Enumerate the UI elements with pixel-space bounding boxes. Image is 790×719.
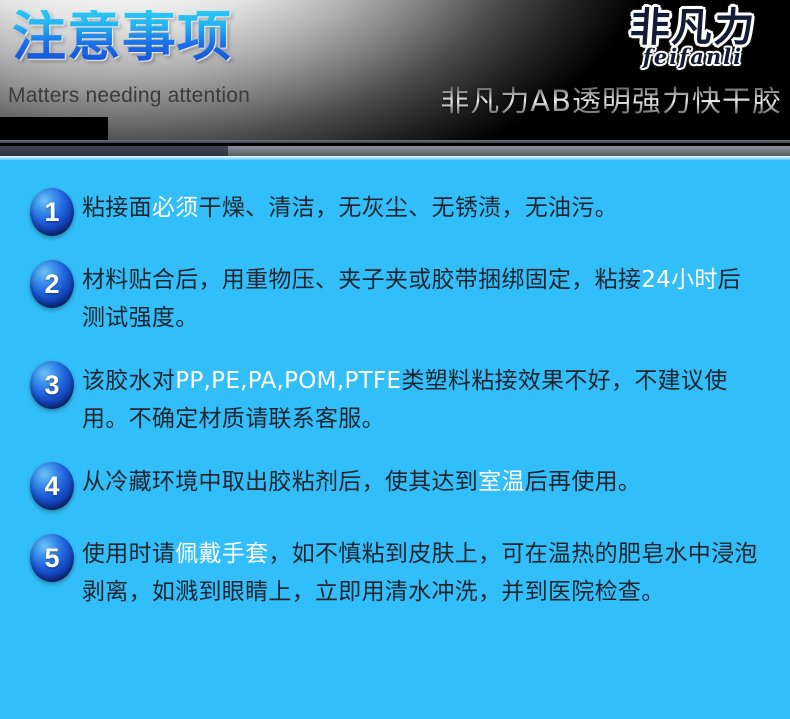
note-text: 从冷藏环境中取出胶粘剂后，使其达到室温后再使用。 <box>82 460 760 501</box>
notes-list: 1粘接面必须干燥、清洁，无灰尘、无锈渍，无油污。2材料贴合后，用重物压、夹子夹或… <box>0 160 790 719</box>
note-text: 粘接面必须干燥、清洁，无灰尘、无锈渍，无油污。 <box>82 186 760 227</box>
note-text-highlight: 必须 <box>152 195 199 221</box>
note-text-highlight: PP,PE,PA,POM,PTFE <box>175 368 401 394</box>
note-text-highlight: 24小时 <box>641 267 717 293</box>
note-number-badge: 3 <box>30 361 74 409</box>
note-number-label: 5 <box>30 534 74 582</box>
note-text: 材料贴合后，用重物压、夹子夹或胶带捆绑固定，粘接24小时后测试强度。 <box>82 258 760 337</box>
note-number-label: 2 <box>30 260 74 308</box>
note-number-label: 3 <box>30 361 74 409</box>
page-title: 注意事项 <box>12 10 232 64</box>
note-number-badge: 2 <box>30 260 74 308</box>
note-item: 3该胶水对PP,PE,PA,POM,PTFE类塑料粘接效果不好，不建议使用。不确… <box>30 359 760 438</box>
note-item: 2材料贴合后，用重物压、夹子夹或胶带捆绑固定，粘接24小时后测试强度。 <box>30 258 760 337</box>
note-text-segment: 粘接面 <box>82 195 152 221</box>
note-number-badge: 1 <box>30 188 74 236</box>
note-text-segment: 从冷藏环境中取出胶粘剂后，使其达到 <box>82 469 478 495</box>
header-black-accent-bar <box>0 117 108 140</box>
separator-bar-left <box>0 146 228 156</box>
note-text-segment: 后再使用。 <box>525 469 642 495</box>
note-item: 4从冷藏环境中取出胶粘剂后，使其达到室温后再使用。 <box>30 460 760 510</box>
note-text-segment: 干燥、清洁，无灰尘、无锈渍，无油污。 <box>199 195 618 221</box>
product-name: 非凡力AB透明强力快干胶 <box>440 86 782 118</box>
note-text-highlight: 佩戴手套 <box>175 541 268 567</box>
separator-bar-right <box>228 146 790 156</box>
note-text-segment: 材料贴合后，用重物压、夹子夹或胶带捆绑固定，粘接 <box>82 267 641 293</box>
note-text-segment: 该胶水对 <box>82 368 175 394</box>
note-item: 1粘接面必须干燥、清洁，无灰尘、无锈渍，无油污。 <box>30 186 760 236</box>
note-text: 使用时请佩戴手套，如不慎粘到皮肤上，可在温热的肥皂水中浸泡剥离，如溅到眼睛上，立… <box>82 532 760 611</box>
note-text-segment: 使用时请 <box>82 541 175 567</box>
note-number-badge: 5 <box>30 534 74 582</box>
note-text-highlight: 室温 <box>478 469 525 495</box>
note-item: 5使用时请佩戴手套，如不慎粘到皮肤上，可在温热的肥皂水中浸泡剥离，如溅到眼睛上，… <box>30 532 760 611</box>
note-text: 该胶水对PP,PE,PA,POM,PTFE类塑料粘接效果不好，不建议使用。不确定… <box>82 359 760 438</box>
note-number-label: 4 <box>30 462 74 510</box>
note-number-badge: 4 <box>30 462 74 510</box>
separator-top-line <box>0 140 790 143</box>
page-subtitle-english: Matters needing attention <box>8 84 250 108</box>
header-separator <box>0 140 790 160</box>
page-header: 注意事项 Matters needing attention 非凡力 feifa… <box>0 0 790 140</box>
brand-logo-chinese: 非凡力 <box>607 8 780 48</box>
brand-logo: 非凡力 feifanli <box>608 8 778 84</box>
note-number-label: 1 <box>30 188 74 236</box>
